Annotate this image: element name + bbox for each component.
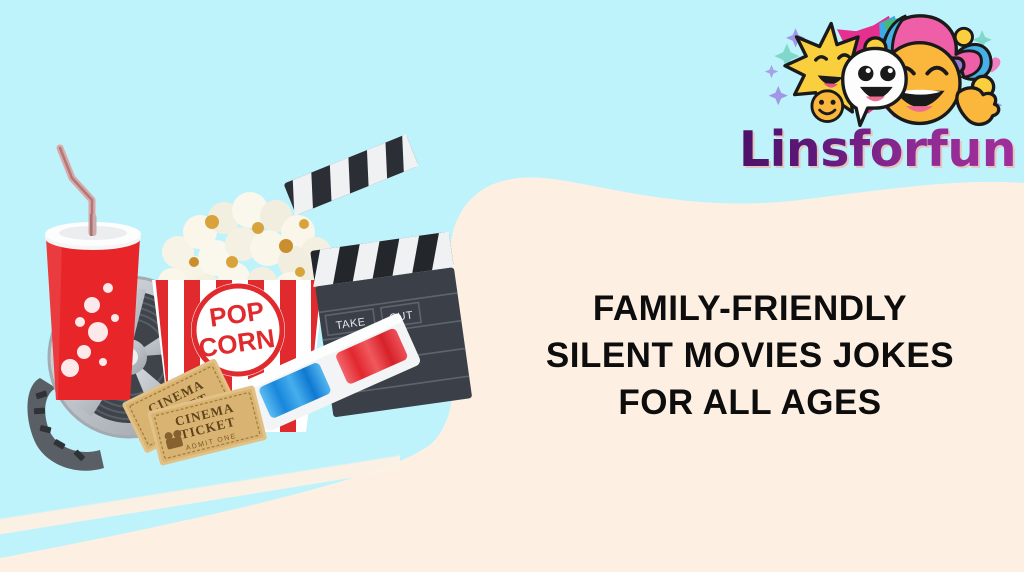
soda-cup	[45, 148, 141, 400]
linsforfun-logo-mark	[760, 10, 1010, 135]
title-line-1: FAMILY-FRIENDLY	[500, 285, 1000, 332]
logo-wordmark: Linsforfun	[735, 122, 1020, 178]
banner-root: POP CORN	[0, 0, 1024, 572]
title-line-2: SILENT MOVIES JOKES	[500, 332, 1000, 379]
small-smiley-face	[812, 91, 843, 122]
page-title: FAMILY-FRIENDLY SILENT MOVIES JOKES FOR …	[500, 285, 1000, 426]
title-line-3: FOR ALL AGES	[500, 379, 1000, 426]
